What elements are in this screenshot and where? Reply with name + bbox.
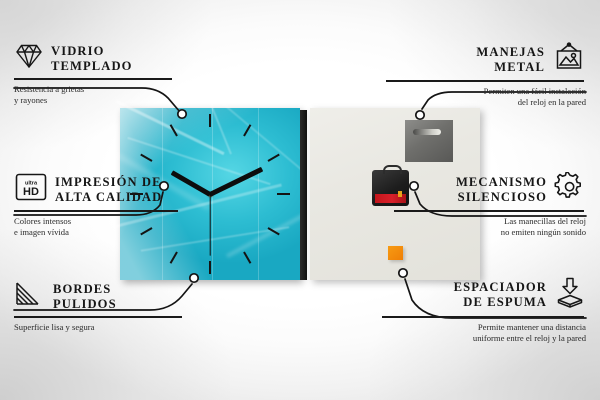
callout-title-line2: PULIDOS [53,297,117,312]
gear-icon [554,172,586,207]
callout-vidrio-templado: VIDRIO TEMPLADO Resistencia a grietas y … [14,42,174,106]
callout-title-line2: DE ESPUMA [454,295,547,310]
callout-desc-line2: uniforme entre el reloj y la pared [382,333,586,344]
callout-desc-line2: no emiten ningún sonido [394,227,586,238]
foam-spacer [388,246,403,260]
hanger-slot [413,129,441,135]
callout-desc-line1: Resistencia a grietas [14,84,174,95]
callout-rule [382,316,584,318]
callout-title-line2: ALTA CALIDAD [55,190,162,205]
ultra-hd-large-text: HD [23,186,39,198]
callout-espaciador-espuma: ESPACIADOR DE ESPUMA Permite mantener un… [382,276,586,344]
callout-mecanismo-silencioso: MECANISMO SILENCIOSO Las manecillas del … [394,172,586,238]
foam-spacer-icon [554,276,586,313]
infographic-canvas: VIDRIO TEMPLADO Resistencia a grietas y … [0,0,600,400]
clock-tick [140,153,152,161]
clock-second-hand [209,194,210,256]
callout-title-line2: METAL [476,60,545,75]
clock-tick [243,124,251,136]
clock-tick [277,193,290,195]
picture-frame-icon [552,42,586,77]
clock-side-edge [300,110,307,280]
ultra-hd-icon: ultra HD [14,172,48,207]
callout-desc-line1: Colores intensos [14,216,180,227]
callout-desc-line1: Permite mantener una distancia [382,322,586,333]
polished-edges-icon [14,280,46,313]
callout-rule [14,78,172,80]
callout-impresion-alta-calidad: ultra HD IMPRESIÓN DE ALTA CALIDAD Color… [14,172,180,238]
callout-title-line1: ESPACIADOR [454,280,547,295]
clock-tick [243,252,251,264]
callout-rule [14,210,178,212]
callout-desc-line2: e imagen vívida [14,227,180,238]
callout-desc-line1: Superficie lisa y segura [14,322,184,333]
clock-tick [169,252,177,264]
callout-rule [386,80,584,82]
clock-tick [268,153,280,161]
clock-tick [209,261,211,274]
callout-desc-line2: del reloj en la pared [386,97,586,108]
callout-desc-line1: Permiten una fácil instalación [386,86,586,97]
callout-title-line1: BORDES [53,282,117,297]
callout-rule [394,210,584,212]
callout-title-line1: MECANISMO [456,175,547,190]
callout-title-line1: IMPRESIÓN DE [55,175,162,190]
callout-desc-line2: y rayones [14,95,174,106]
callout-manejas-metal: MANEJAS METAL Permiten una fácil instala… [386,42,586,108]
clock-tick [209,114,211,127]
callout-bordes-pulidos: BORDES PULIDOS Superficie lisa y segura [14,280,184,333]
callout-title-line1: MANEJAS [476,45,545,60]
callout-title-line2: TEMPLADO [51,59,133,74]
metal-hanger-plate [405,120,453,162]
callout-rule [14,316,182,318]
diamond-icon [14,42,44,75]
callout-title-line1: VIDRIO [51,44,133,59]
callout-title-line2: SILENCIOSO [456,190,547,205]
callout-desc-line1: Las manecillas del reloj [394,216,586,227]
